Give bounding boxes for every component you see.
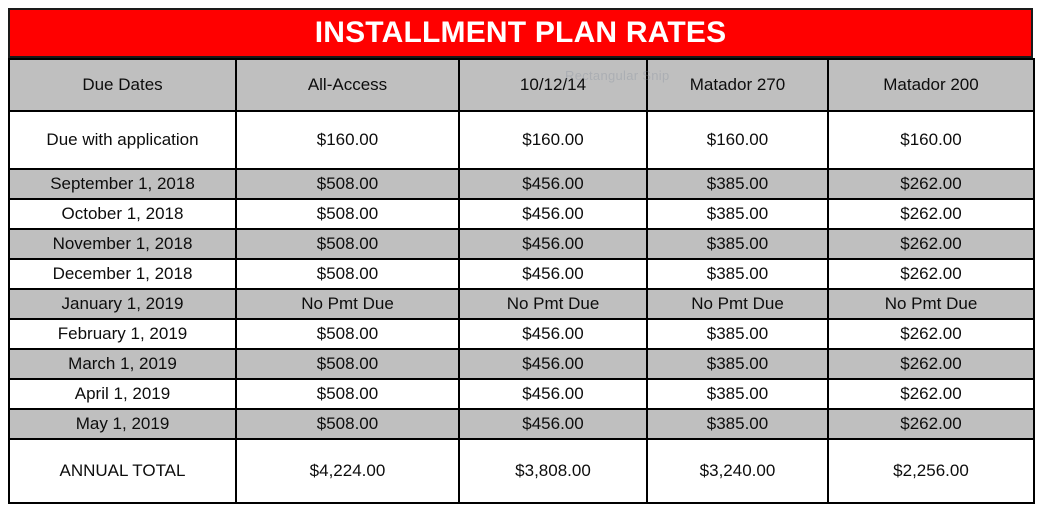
rate-cell[interactable]: No Pmt Due (236, 289, 459, 319)
annual-total-cell[interactable]: $3,808.00 (459, 439, 647, 503)
annual-total-cell[interactable]: $3,240.00 (647, 439, 828, 503)
rate-cell[interactable]: $262.00 (828, 229, 1034, 259)
table-row: February 1, 2019$508.00$456.00$385.00$26… (9, 319, 1034, 349)
rate-cell[interactable]: $160.00 (459, 111, 647, 169)
row-label-cell[interactable]: Due with application (9, 111, 236, 169)
rate-cell[interactable]: $456.00 (459, 229, 647, 259)
title-banner: INSTALLMENT PLAN RATES (8, 8, 1033, 58)
row-label-cell[interactable]: January 1, 2019 (9, 289, 236, 319)
row-label-cell[interactable]: March 1, 2019 (9, 349, 236, 379)
row-label-cell[interactable]: April 1, 2019 (9, 379, 236, 409)
page-title: INSTALLMENT PLAN RATES (315, 18, 727, 48)
column-header-matador-270[interactable]: Matador 270 (647, 59, 828, 111)
rate-cell[interactable]: $508.00 (236, 319, 459, 349)
table-row: November 1, 2018$508.00$456.00$385.00$26… (9, 229, 1034, 259)
table-row: October 1, 2018$508.00$456.00$385.00$262… (9, 199, 1034, 229)
rate-cell[interactable]: $456.00 (459, 349, 647, 379)
column-header-due-dates[interactable]: Due Dates (9, 59, 236, 111)
spreadsheet-canvas: INSTALLMENT PLAN RATES Due Dates All-Acc… (0, 0, 1042, 513)
rate-cell[interactable]: $262.00 (828, 259, 1034, 289)
rate-cell[interactable]: $508.00 (236, 199, 459, 229)
installment-rates-table: Due Dates All-Access 10/12/14 Matador 27… (8, 58, 1035, 504)
table-row: January 1, 2019No Pmt DueNo Pmt DueNo Pm… (9, 289, 1034, 319)
row-label-cell[interactable]: May 1, 2019 (9, 409, 236, 439)
rate-cell[interactable]: $160.00 (647, 111, 828, 169)
table-row: May 1, 2019$508.00$456.00$385.00$262.00 (9, 409, 1034, 439)
rate-cell[interactable]: $262.00 (828, 199, 1034, 229)
table-header-row: Due Dates All-Access 10/12/14 Matador 27… (9, 59, 1034, 111)
rate-cell[interactable]: $456.00 (459, 169, 647, 199)
table-row: December 1, 2018$508.00$456.00$385.00$26… (9, 259, 1034, 289)
column-header-all-access[interactable]: All-Access (236, 59, 459, 111)
rate-cell[interactable]: $508.00 (236, 409, 459, 439)
rate-cell[interactable]: $456.00 (459, 259, 647, 289)
table-row: April 1, 2019$508.00$456.00$385.00$262.0… (9, 379, 1034, 409)
column-header-matador-200[interactable]: Matador 200 (828, 59, 1034, 111)
rate-cell[interactable]: $262.00 (828, 319, 1034, 349)
row-label-cell[interactable]: November 1, 2018 (9, 229, 236, 259)
rate-cell[interactable]: $508.00 (236, 349, 459, 379)
table-body: Due with application$160.00$160.00$160.0… (9, 111, 1034, 503)
rate-cell[interactable]: $456.00 (459, 199, 647, 229)
table-head: Due Dates All-Access 10/12/14 Matador 27… (9, 59, 1034, 111)
rate-cell[interactable]: $456.00 (459, 319, 647, 349)
rate-cell[interactable]: $262.00 (828, 379, 1034, 409)
rate-cell[interactable]: No Pmt Due (647, 289, 828, 319)
rate-cell[interactable]: $508.00 (236, 379, 459, 409)
rate-cell[interactable]: $385.00 (647, 229, 828, 259)
table-row: Due with application$160.00$160.00$160.0… (9, 111, 1034, 169)
row-label-cell[interactable]: December 1, 2018 (9, 259, 236, 289)
rate-cell[interactable]: $160.00 (828, 111, 1034, 169)
table-row: September 1, 2018$508.00$456.00$385.00$2… (9, 169, 1034, 199)
rate-cell[interactable]: $385.00 (647, 349, 828, 379)
row-label-cell[interactable]: February 1, 2019 (9, 319, 236, 349)
rate-cell[interactable]: $456.00 (459, 409, 647, 439)
column-header-10-12-14[interactable]: 10/12/14 (459, 59, 647, 111)
annual-total-cell[interactable]: $4,224.00 (236, 439, 459, 503)
rate-cell[interactable]: $385.00 (647, 379, 828, 409)
rate-cell[interactable]: $385.00 (647, 409, 828, 439)
rate-cell[interactable]: No Pmt Due (828, 289, 1034, 319)
rate-cell[interactable]: No Pmt Due (459, 289, 647, 319)
rate-cell[interactable]: $385.00 (647, 259, 828, 289)
row-label-cell[interactable]: October 1, 2018 (9, 199, 236, 229)
row-label-cell[interactable]: September 1, 2018 (9, 169, 236, 199)
rate-cell[interactable]: $508.00 (236, 229, 459, 259)
rate-cell[interactable]: $385.00 (647, 199, 828, 229)
rate-cell[interactable]: $262.00 (828, 169, 1034, 199)
rate-cell[interactable]: $262.00 (828, 349, 1034, 379)
table-row: March 1, 2019$508.00$456.00$385.00$262.0… (9, 349, 1034, 379)
rate-cell[interactable]: $508.00 (236, 259, 459, 289)
rate-cell[interactable]: $385.00 (647, 319, 828, 349)
annual-total-row: ANNUAL TOTAL$4,224.00$3,808.00$3,240.00$… (9, 439, 1034, 503)
rate-cell[interactable]: $385.00 (647, 169, 828, 199)
rate-cell[interactable]: $508.00 (236, 169, 459, 199)
rate-cell[interactable]: $160.00 (236, 111, 459, 169)
rate-cell[interactable]: $262.00 (828, 409, 1034, 439)
annual-total-cell[interactable]: $2,256.00 (828, 439, 1034, 503)
rate-cell[interactable]: $456.00 (459, 379, 647, 409)
annual-total-label[interactable]: ANNUAL TOTAL (9, 439, 236, 503)
